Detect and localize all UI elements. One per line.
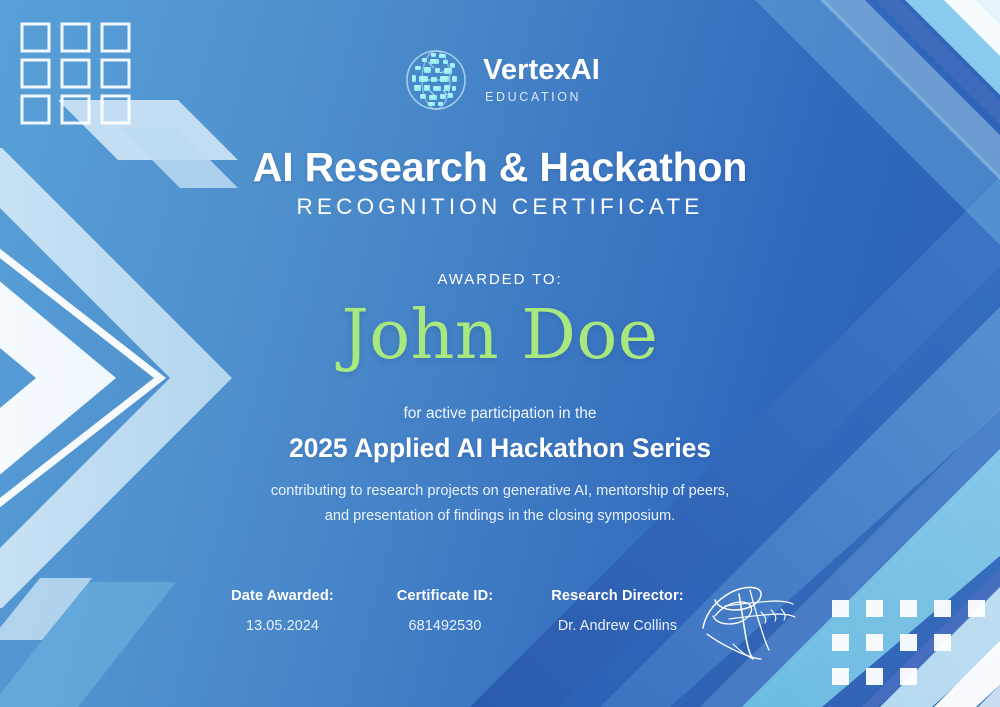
awarded-to-label: AWARDED TO: [0, 271, 1000, 288]
pixel-globe-icon [400, 44, 472, 116]
reason-body-text: contributing to research projects on gen… [0, 479, 1000, 530]
date-awarded-label: Date Awarded: [200, 588, 365, 604]
program-name: 2025 Applied AI Hackathon Series [0, 433, 1000, 464]
certificate-type-subtitle: RECOGNITION CERTIFICATE [0, 194, 1000, 220]
reason-body-line-2: and presentation of findings in the clos… [0, 504, 1000, 529]
certificate-id-field: Certificate ID: 681492530 [365, 588, 525, 634]
research-director-field: Research Director: Dr. Andrew Collins [525, 588, 710, 634]
recipient-name: John Doe [0, 296, 1000, 376]
page-title: AI Research & Hackathon [0, 144, 1000, 191]
signature-area [695, 576, 805, 662]
brand-text-block: VertexAI EDUCATION [483, 56, 600, 104]
date-awarded-field: Date Awarded: 13.05.2024 [200, 588, 365, 634]
handwritten-signature-icon [695, 576, 805, 662]
date-awarded-value: 13.05.2024 [200, 618, 365, 634]
reason-lead-text: for active participation in the [0, 405, 1000, 423]
reason-body-line-1: contributing to research projects on gen… [0, 479, 1000, 504]
brand-name: VertexAI [483, 56, 600, 85]
brand-logo: VertexAI EDUCATION [0, 44, 1000, 116]
research-director-value: Dr. Andrew Collins [525, 618, 710, 634]
research-director-label: Research Director: [525, 588, 710, 604]
certificate-id-value: 681492530 [365, 618, 525, 634]
certificate-document: VertexAI EDUCATION AI Research & Hackath… [0, 0, 1000, 707]
certificate-footer: Date Awarded: 13.05.2024 Certificate ID:… [200, 588, 800, 634]
brand-subtitle: EDUCATION [485, 91, 600, 104]
certificate-id-label: Certificate ID: [365, 588, 525, 604]
